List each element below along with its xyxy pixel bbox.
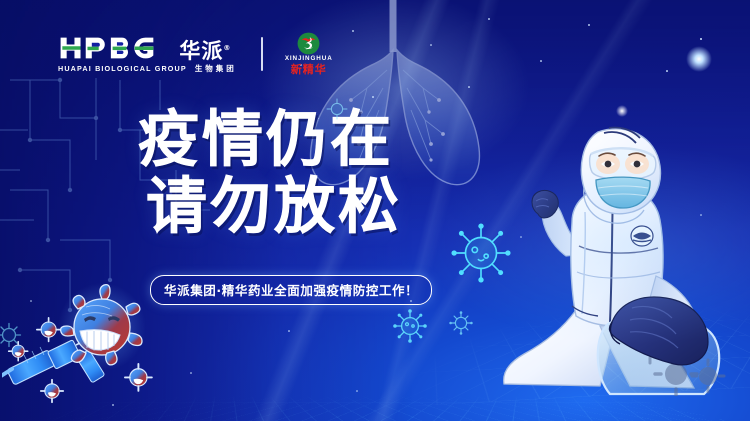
xinjinghua-chinese-name: 新精华 bbox=[291, 64, 327, 76]
xinjinghua-logo[interactable]: XINJINGHUA 新精华 bbox=[285, 32, 333, 75]
medical-worker-in-ppe bbox=[480, 96, 748, 396]
small-virus-icon bbox=[125, 364, 152, 391]
registered-mark-icon: ® bbox=[223, 44, 231, 52]
hpbg-wordmark-icon bbox=[58, 35, 172, 61]
huapai-chinese-name: 华派® bbox=[179, 41, 231, 62]
virus-outline-icon bbox=[448, 310, 474, 336]
subtitle-badge: 华派集团·精华药业全面加强疫情防控工作！ bbox=[150, 275, 432, 305]
huapai-english-subtitle: HUAPAI BIOLOGICAL GROUP bbox=[58, 65, 187, 72]
small-virus-icon bbox=[9, 342, 28, 361]
logo-header: 华派® HUAPAI BIOLOGICAL GROUP 生物集团 XINJING… bbox=[58, 28, 333, 80]
huapai-chinese-subtitle: 生物集团 bbox=[195, 65, 237, 73]
xinjinghua-emblem-icon bbox=[297, 32, 320, 55]
xinjinghua-english-name: XINJINGHUA bbox=[285, 56, 333, 62]
syringe-and-virus-illustration bbox=[2, 281, 192, 411]
subtitle-text: 华派集团·精华药业全面加强疫情防控工作！ bbox=[164, 280, 418, 299]
huapai-logo[interactable]: 华派® HUAPAI BIOLOGICAL GROUP 生物集团 bbox=[58, 35, 237, 73]
promotional-banner: 华派® HUAPAI BIOLOGICAL GROUP 生物集团 XINJING… bbox=[0, 0, 750, 421]
virus-outline-icon bbox=[324, 96, 350, 122]
headline-line-1: 疫情仍在 bbox=[138, 110, 478, 170]
small-virus-icon bbox=[37, 318, 61, 342]
logo-divider bbox=[261, 37, 263, 71]
headline-block: 疫情仍在 请勿放松 bbox=[138, 110, 478, 237]
small-virus-icon bbox=[41, 380, 63, 402]
virus-outline-icon bbox=[392, 308, 428, 344]
headline-line-2: 请勿放松 bbox=[146, 177, 478, 237]
